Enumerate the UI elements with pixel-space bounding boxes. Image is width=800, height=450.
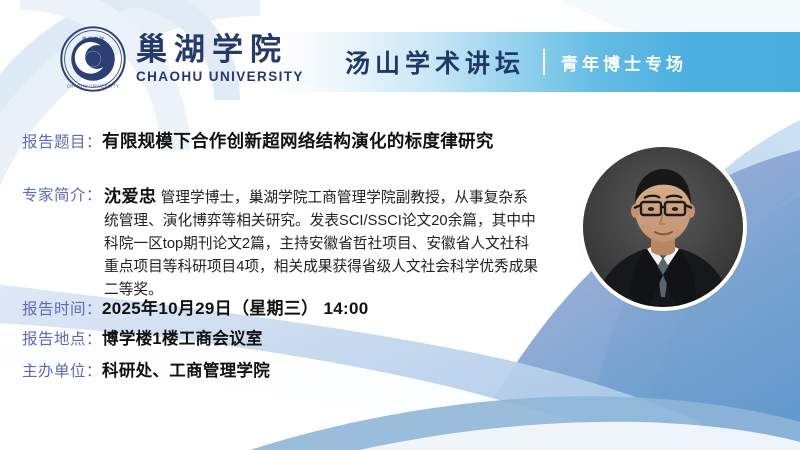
speaker-bio-row: 专家简介： 沈爱忠 管理学博士，巢湖学院工商管理学院副教授，从事复杂系统管理、演… [22, 182, 542, 302]
university-name-en: CHAOHU UNIVERSITY [136, 69, 304, 84]
organizer-row: 主办单位： 科研处、工商管理学院 [22, 357, 270, 381]
lecture-place-label: 报告地点： [22, 327, 102, 349]
organizer-value: 科研处、工商管理学院 [102, 357, 270, 381]
lecture-time-value: 2025年10月29日（星期三） 14:00 [102, 294, 368, 319]
speaker-bio-body: 沈爱忠 管理学博士，巢湖学院工商管理学院副教授，从事复杂系统管理、演化博弈等相关… [104, 182, 542, 302]
speaker-portrait-illustration [583, 147, 743, 307]
lecture-place-value: 博学楼1楼工商会议室 [102, 325, 263, 349]
svg-text:巢 湖 学 院: 巢 湖 学 院 [82, 36, 104, 43]
speaker-bio-text: 管理学博士，巢湖学院工商管理学院副教授，从事复杂系统管理、演化博弈等相关研究。发… [104, 190, 538, 298]
chaohu-university-seal-icon: 巢 湖 学 院 CHAOHU UNIVERSITY [60, 26, 126, 92]
banner-main-title: 汤山学术讲坛 [345, 44, 525, 80]
lecture-time-row: 报告时间： 2025年10月29日（星期三） 14:00 [22, 294, 368, 319]
university-logo: 巢 湖 学 院 CHAOHU UNIVERSITY 巢湖学院 CHAOHU UN… [60, 26, 304, 92]
svg-text:CHAOHU UNIVERSITY: CHAOHU UNIVERSITY [67, 83, 119, 88]
lecture-title-value: 有限规模下合作创新超网络结构演化的标度律研究 [102, 128, 494, 153]
lecture-title-label: 报告题目： [22, 130, 102, 152]
organizer-label: 主办单位： [22, 359, 102, 381]
speaker-portrait-photo [583, 147, 743, 307]
lecture-place-row: 报告地点： 博学楼1楼工商会议室 [22, 325, 263, 349]
lecture-series-banner: 汤山学术讲坛 青年博士专场 [270, 32, 800, 92]
poster-canvas: 汤山学术讲坛 青年博士专场 巢 湖 学 院 CHAOHU UNIVERSITY [0, 0, 800, 450]
speaker-name: 沈爱忠 [104, 187, 157, 206]
banner-sub-title: 青年博士专场 [561, 50, 687, 75]
banner-divider [543, 49, 545, 75]
lecture-title-row: 报告题目： 有限规模下合作创新超网络结构演化的标度律研究 [22, 128, 494, 153]
university-name-cn: 巢湖学院 [136, 34, 304, 67]
poster-header: 汤山学术讲坛 青年博士专场 巢 湖 学 院 CHAOHU UNIVERSITY [0, 22, 800, 104]
lecture-time-label: 报告时间： [22, 297, 102, 319]
speaker-bio-label: 专家简介： [22, 183, 102, 205]
